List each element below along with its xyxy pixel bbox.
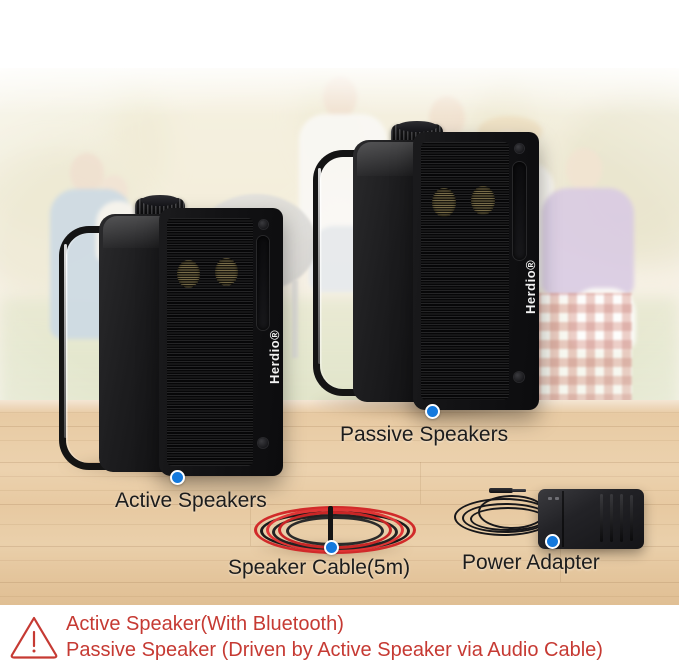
adapter-vent-rib bbox=[610, 494, 613, 542]
adapter-seam bbox=[562, 491, 564, 547]
adapter-led bbox=[555, 497, 559, 500]
floor-grain-line bbox=[0, 596, 679, 597]
callout-dot-passive-speakers[interactable] bbox=[425, 404, 440, 419]
tweeter-driver bbox=[177, 260, 200, 288]
knob-cap bbox=[397, 121, 437, 132]
warning-text-block: Active Speaker(With Bluetooth) Passive S… bbox=[66, 611, 603, 663]
callout-dot-speaker-cable[interactable] bbox=[324, 540, 339, 555]
plug-pin bbox=[512, 489, 526, 492]
product-infographic: Herdio® Herdio® bbox=[0, 0, 679, 670]
callout-label-power-adapter: Power Adapter bbox=[462, 551, 600, 575]
adapter-cord bbox=[478, 495, 546, 529]
brand-logo: Herdio® bbox=[267, 330, 282, 384]
tweeter-driver bbox=[432, 188, 456, 217]
speaker-grille bbox=[167, 218, 253, 466]
carry-handle-slot bbox=[513, 162, 526, 260]
callout-label-speaker-cable: Speaker Cable(5m) bbox=[228, 556, 410, 580]
floor-plank-join bbox=[420, 462, 421, 504]
active-speaker[interactable]: Herdio® bbox=[55, 198, 295, 473]
mount-screw bbox=[514, 372, 524, 382]
speaker-side-highlight bbox=[103, 216, 165, 248]
mount-screw bbox=[258, 438, 268, 448]
brand-logo: Herdio® bbox=[523, 260, 538, 314]
barrel-plug bbox=[489, 488, 513, 493]
knob-cap bbox=[141, 195, 179, 206]
callout-label-passive-speakers: Passive Speakers bbox=[340, 423, 508, 447]
floor-plank-seam bbox=[0, 582, 679, 583]
speaker-side-highlight bbox=[357, 142, 419, 176]
carry-handle-slot bbox=[257, 236, 269, 330]
bracket-highlight bbox=[64, 244, 67, 438]
adapter-vent-rib bbox=[600, 494, 603, 542]
mount-screw bbox=[259, 220, 268, 229]
adapter-vent-rib bbox=[620, 494, 623, 542]
bracket-highlight bbox=[318, 168, 321, 364]
adapter-vent-rib bbox=[630, 495, 633, 541]
callout-label-active-speakers: Active Speakers bbox=[115, 489, 267, 513]
warning-triangle-icon bbox=[8, 612, 60, 660]
adapter-led bbox=[548, 497, 552, 500]
mount-screw bbox=[515, 144, 524, 153]
title-band bbox=[0, 0, 679, 68]
tweeter-driver bbox=[215, 258, 238, 286]
callout-dot-power-adapter[interactable] bbox=[545, 534, 560, 549]
passive-speaker[interactable]: Herdio® bbox=[305, 124, 540, 409]
warning-line-passive: Passive Speaker (Driven by Active Speake… bbox=[66, 637, 603, 663]
tweeter-driver bbox=[471, 186, 495, 215]
speaker-grille bbox=[421, 142, 509, 400]
warning-line-active: Active Speaker(With Bluetooth) bbox=[66, 611, 603, 637]
callout-dot-active-speakers[interactable] bbox=[170, 470, 185, 485]
